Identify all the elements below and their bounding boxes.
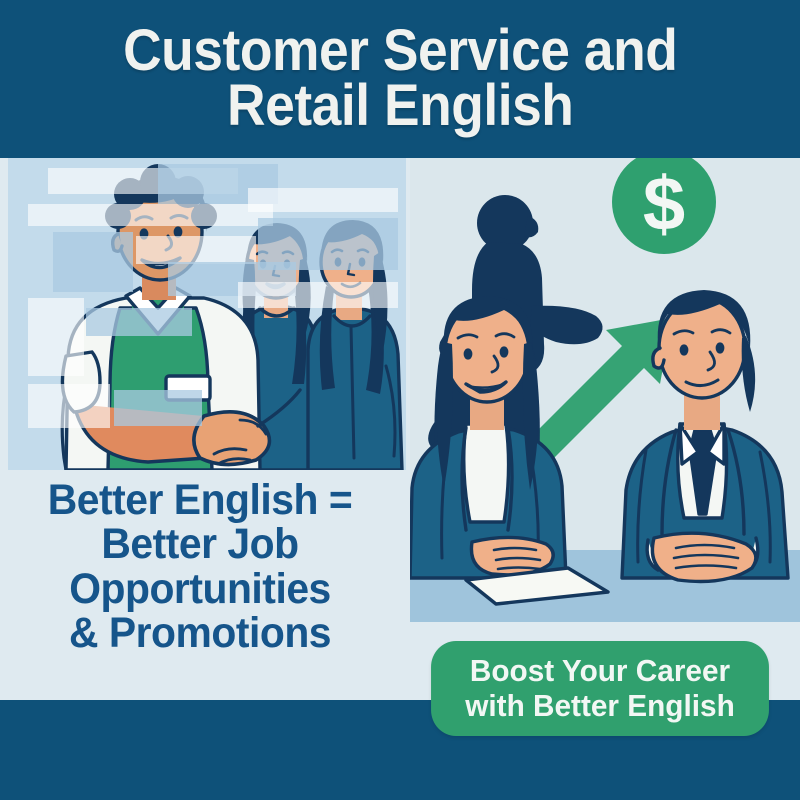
left-image-panel [8,158,406,470]
shelf-bar [258,218,398,270]
shelf-bar [114,390,202,426]
dollar-sign-label: $ [643,162,685,247]
cta-line-2: with Better English [465,689,735,723]
career-growth-illustration: $ [410,158,800,622]
tagline-line-4: & Promotions [10,611,390,655]
title-line-2: Retail English [123,79,677,134]
dollar-coin-icon: $ [612,158,716,254]
shelf-bar [53,232,133,292]
right-image-panel: $ [410,158,800,622]
tagline-text: Better English = Better Job Opportunitie… [10,478,390,655]
tagline-line-1: Better English = [10,478,390,522]
shelf-bar [238,282,398,308]
shelf-bar [28,298,84,376]
shelf-bar [248,188,398,212]
shelf-bar [28,384,110,428]
tagline-line-2: Better Job [10,522,390,566]
shelf-bar [136,236,256,264]
header-band: Customer Service and Retail English [0,0,800,158]
shelf-bar [28,204,273,226]
page-title: Customer Service and Retail English [95,24,704,133]
cta-badge[interactable]: Boost Your Career with Better English [431,641,769,736]
title-line-1: Customer Service and [123,24,677,79]
poster-canvas: Customer Service and Retail English [0,0,800,800]
tagline-line-3: Opportunities [10,567,390,611]
shelf-bar [86,308,192,336]
hand [652,533,755,581]
cta-line-1: Boost Your Career [470,654,730,688]
